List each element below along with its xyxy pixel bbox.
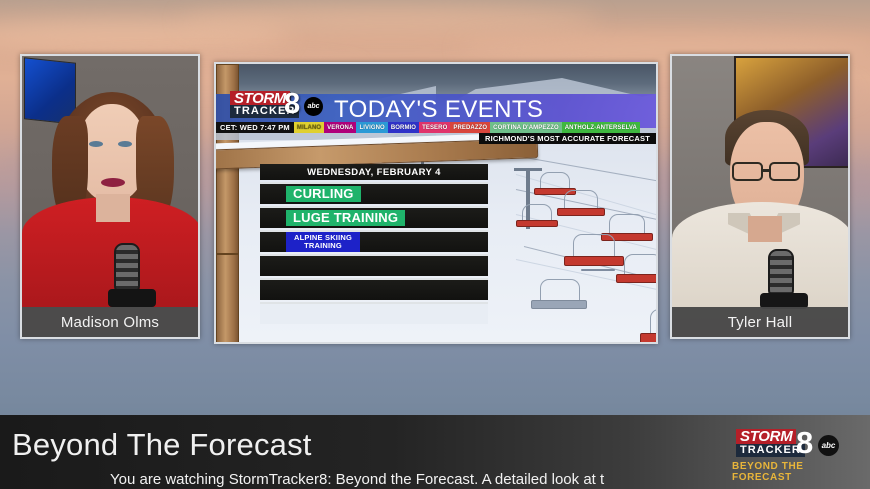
logo-tagline: BEYOND THE FORECAST	[732, 461, 854, 483]
cet-clock: CET: WED 7:47 PM	[216, 122, 294, 133]
glasses-icon	[732, 162, 763, 181]
event-tag-alpine-skiing: ALPINE SKIING TRAINING	[286, 232, 360, 251]
glasses-bridge	[763, 169, 769, 172]
city-chip: ANTHOLZ-ANTERSELVA	[562, 122, 640, 133]
city-chip: TESERO	[419, 122, 450, 133]
microphone	[768, 249, 794, 299]
logo-channel-number: 8	[796, 427, 813, 458]
closed-caption-text: You are watching StormTracker8: Beyond t…	[110, 471, 728, 488]
city-chip: CORTINA D'AMPEZZO	[490, 122, 562, 133]
board-row-empty	[260, 302, 488, 324]
participant-nameplate-left: Madison Olms	[22, 307, 198, 337]
city-ticker-strip: CET: WED 7:47 PM MILANO VERONA LIVIGNO B…	[216, 122, 658, 133]
board-row-empty	[260, 254, 488, 276]
weather-graphic-tile[interactable]: WEDNESDAY, FEBRUARY 4 CURLING LUGE TRAIN…	[214, 62, 658, 344]
board-row-event: CURLING	[260, 182, 488, 204]
participant-name: Tyler Hall	[728, 314, 793, 331]
logo-tracker-text: TRACKER	[736, 444, 805, 457]
board-row-event: ALPINE SKIING TRAINING	[260, 230, 488, 252]
cloud-decoration	[180, 6, 600, 34]
glasses-icon	[769, 162, 800, 181]
event-tag-line2: TRAINING	[304, 242, 342, 250]
station-logo-chyron: STORM TRACKER 8 abc BEYOND THE FORECAST	[724, 427, 854, 479]
lower-third-bar: Beyond The Forecast You are watching Sto…	[0, 415, 870, 489]
background-monitor	[24, 57, 76, 124]
city-chip: MILANO	[294, 122, 324, 133]
participant-name: Madison Olms	[61, 314, 159, 331]
participant-tile-right[interactable]: Tyler Hall	[670, 54, 850, 339]
logo-storm-text: STORM	[736, 429, 796, 445]
station-logo-center: STORM TRACKER 8 abc	[230, 91, 334, 120]
sign-post-right	[216, 254, 239, 342]
broadcast-stage: Madison Olms Tyler Hall	[0, 0, 870, 489]
participant-eye-left	[89, 141, 103, 147]
city-chip: BORMIO	[388, 122, 419, 133]
participant-neck	[748, 216, 782, 242]
city-chip: PREDAZZO	[450, 122, 490, 133]
events-board: WEDNESDAY, FEBRUARY 4 CURLING LUGE TRAIN…	[260, 164, 488, 342]
participant-video-left	[22, 56, 198, 337]
logo-storm-text: STORM	[230, 91, 290, 106]
graphic-banner-title: TODAY'S EVENTS	[334, 96, 543, 124]
program-title: Beyond The Forecast	[12, 427, 312, 463]
event-tag-luge: LUGE TRAINING	[286, 210, 405, 225]
abc-network-icon: abc	[304, 97, 323, 116]
chairlift-tower-arm	[514, 168, 542, 171]
board-date-header: WEDNESDAY, FEBRUARY 4	[307, 167, 441, 178]
event-tag-curling: CURLING	[286, 186, 361, 201]
participant-tile-left[interactable]: Madison Olms	[20, 54, 200, 339]
participant-video-right	[672, 56, 848, 337]
abc-network-icon: abc	[818, 435, 839, 456]
accuracy-tagline: RICHMOND'S MOST ACCURATE FORECAST	[479, 133, 656, 144]
microphone-base	[108, 289, 156, 307]
participant-neck	[96, 194, 130, 222]
city-chip: VERONA	[324, 122, 356, 133]
microphone	[114, 243, 140, 295]
logo-channel-number: 8	[284, 90, 300, 119]
board-row-date: WEDNESDAY, FEBRUARY 4	[260, 164, 488, 180]
participant-eye-right	[118, 141, 132, 147]
board-row-event: LUGE TRAINING	[260, 206, 488, 228]
board-row-empty	[260, 278, 488, 300]
cloud-decoration	[0, 18, 290, 52]
participant-mouth	[101, 178, 125, 187]
city-chip: LIVIGNO	[356, 122, 387, 133]
participant-nameplate-right: Tyler Hall	[672, 307, 848, 337]
